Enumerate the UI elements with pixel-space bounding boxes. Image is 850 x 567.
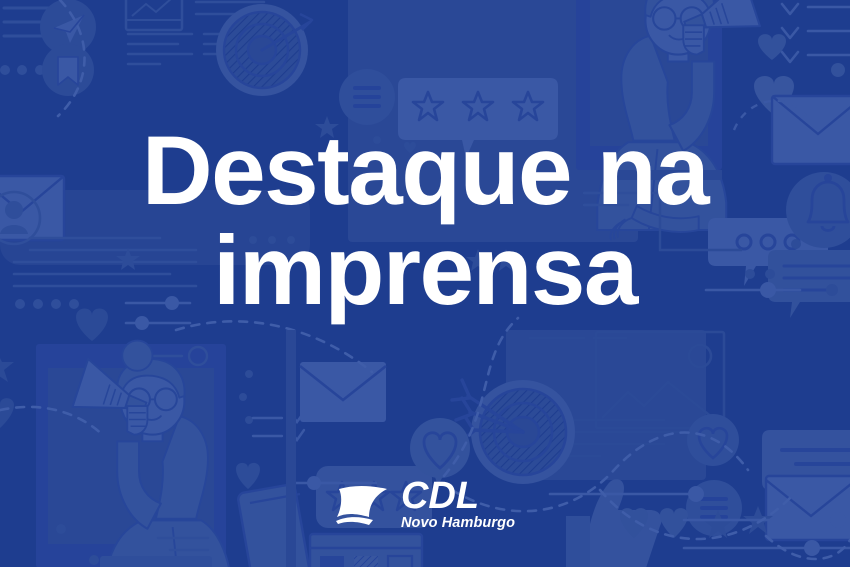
cdl-city-name: Novo Hamburgo	[401, 516, 515, 531]
headline-line-2: imprensa	[0, 222, 850, 318]
cdl-page-mark-icon	[335, 483, 393, 527]
cdl-brand-name: CDL	[401, 479, 479, 514]
cdl-logo: CDL Novo Hamburgo	[0, 479, 850, 532]
press-highlight-banner: Destaque na imprensa CDL Novo Hamburgo	[0, 0, 850, 567]
page-title: Destaque na imprensa	[0, 122, 850, 318]
headline-line-1: Destaque na	[0, 122, 850, 218]
cdl-logo-text: CDL Novo Hamburgo	[401, 479, 515, 532]
